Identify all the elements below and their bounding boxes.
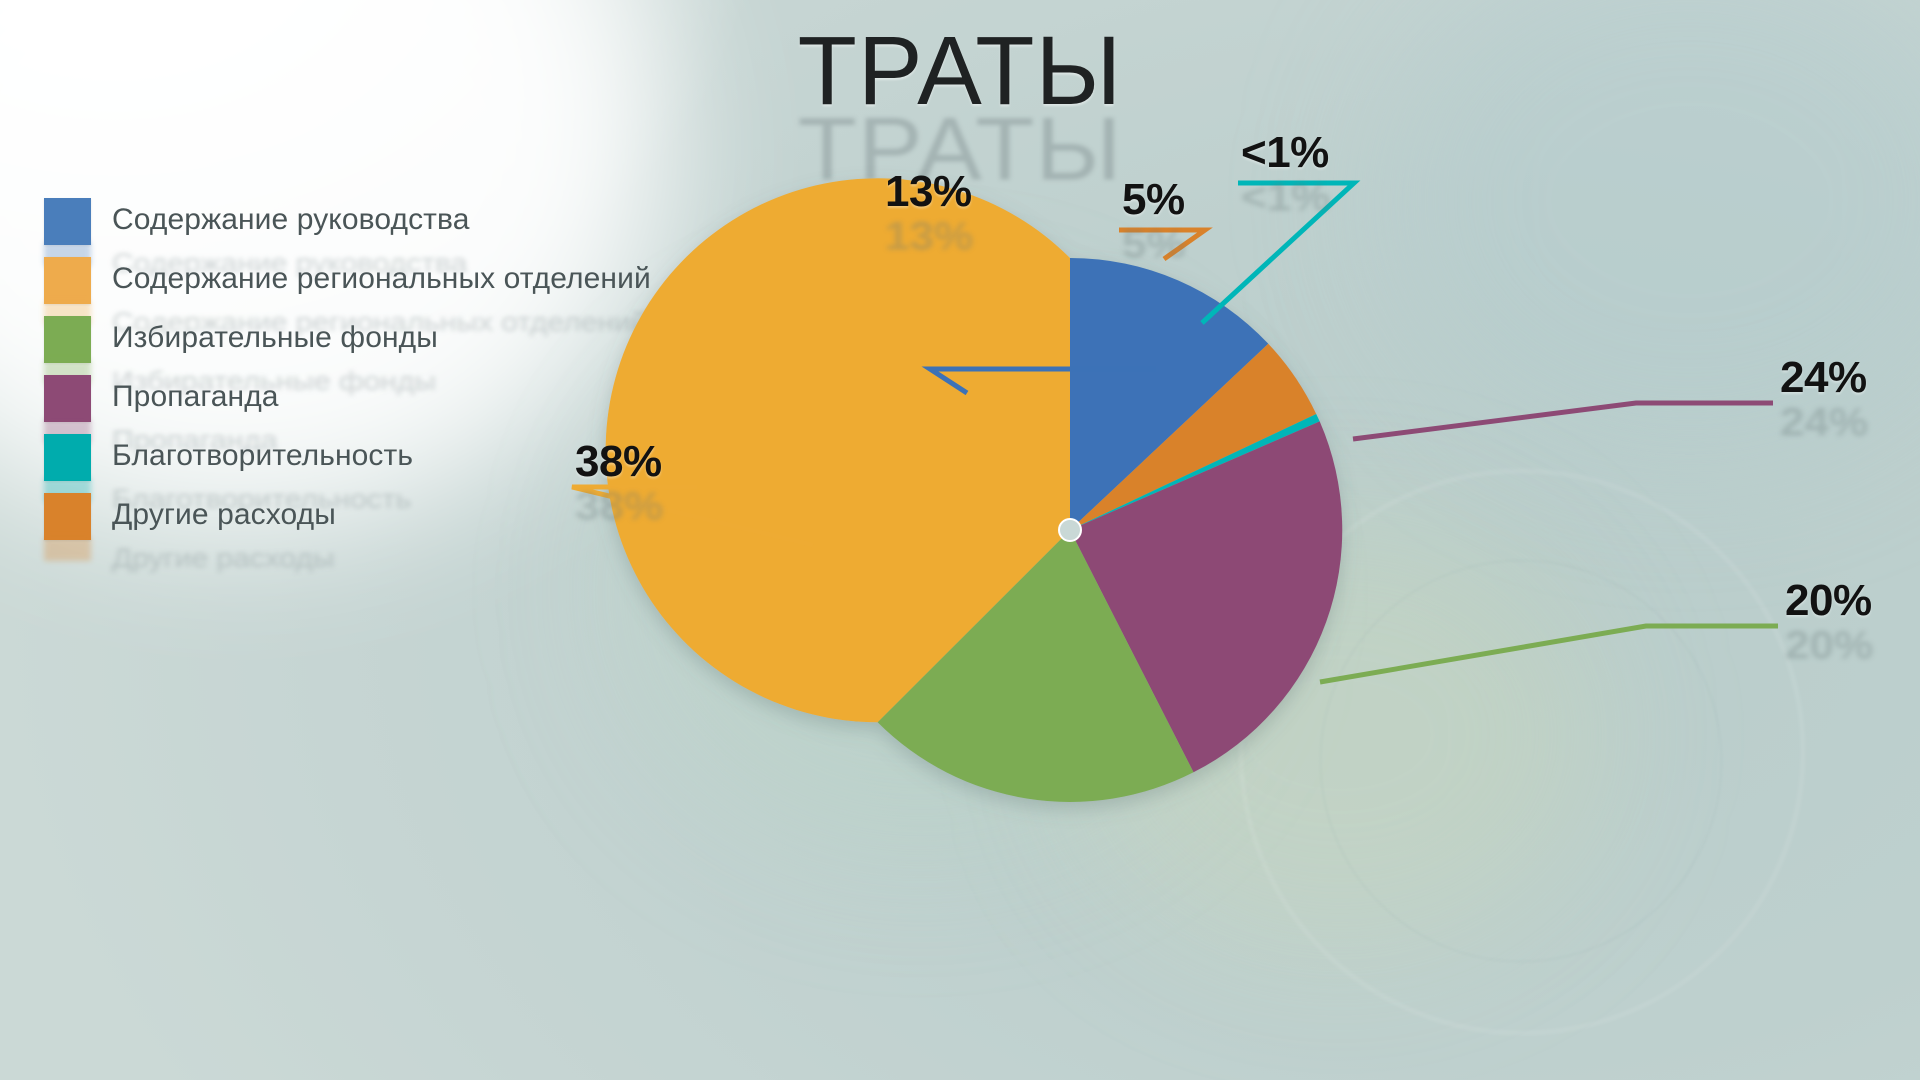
page-title: ТРАТЫ <box>0 22 1920 121</box>
legend-label: Содержание региональных отделений <box>112 255 651 302</box>
legend-swatch-blue <box>44 198 91 245</box>
legend-swatch-orange <box>44 493 91 540</box>
leader-line-20 <box>1320 626 1778 682</box>
slide-canvas: ТРАТЫ ТРАТЫ Содержание руководства Содер… <box>0 0 1920 1080</box>
callout-24: 24% <box>1780 353 1867 403</box>
callout-lt1: <1% <box>1241 128 1329 178</box>
callout-20: 20% <box>1785 576 1872 626</box>
legend-swatch-purple <box>44 375 91 422</box>
pie-chart-svg <box>760 120 1900 980</box>
pie-chart: 13% 13% 5% 5% <1% <1% 24% 24% 20% 20% 38… <box>760 120 1900 980</box>
legend-swatch-green <box>44 316 91 363</box>
legend-swatch-amber <box>44 257 91 304</box>
legend-label: Благотворительность <box>112 432 413 479</box>
legend-label: Содержание руководства <box>112 196 470 243</box>
callout-5: 5% <box>1122 175 1185 225</box>
callout-13: 13% <box>885 167 972 217</box>
legend-label: Избирательные фонды <box>112 314 438 361</box>
pie-center-hub <box>1059 519 1081 541</box>
legend-label: Другие расходы <box>112 491 336 538</box>
leader-line-24 <box>1353 403 1773 439</box>
leader-line-5 <box>1119 230 1205 259</box>
callout-38: 38% <box>575 437 662 487</box>
legend-swatch-teal <box>44 434 91 481</box>
legend-label: Пропаганда <box>112 373 279 420</box>
leader-line-lt1 <box>1202 183 1354 323</box>
page-title-wrap: ТРАТЫ ТРАТЫ <box>0 22 1920 121</box>
